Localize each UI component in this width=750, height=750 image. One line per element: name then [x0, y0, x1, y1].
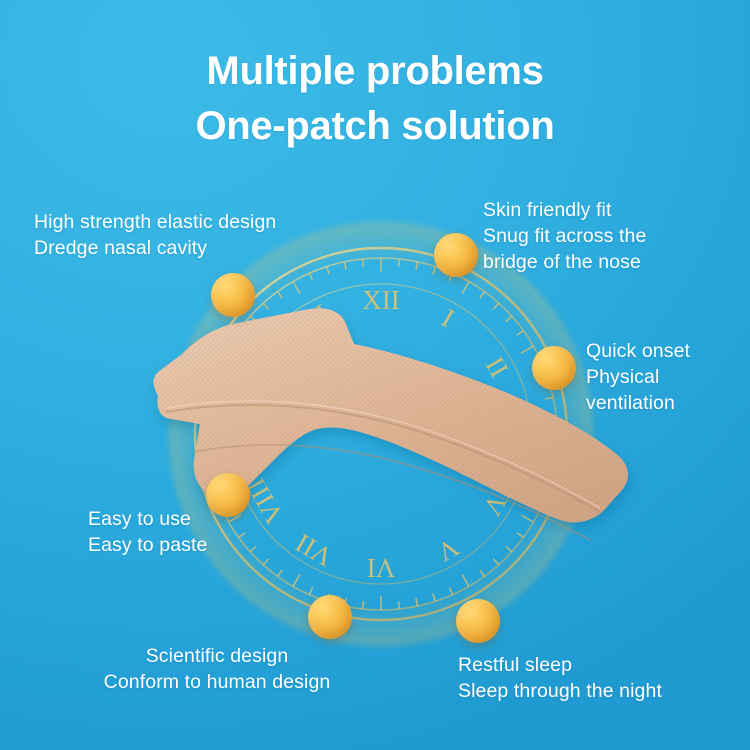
marker-quick-onset[interactable]: [532, 346, 576, 390]
feature-label-skin-friendly: Skin friendly fit Snug fit across the br…: [483, 198, 646, 276]
feature-line: Quick onset: [586, 339, 690, 365]
feature-label-easy-to-use: Easy to use Easy to paste: [88, 507, 207, 559]
feature-line: High strength elastic design: [34, 210, 276, 236]
page-title: Multiple problems One-patch solution: [0, 44, 750, 154]
marker-restful-sleep[interactable]: [456, 599, 500, 643]
feature-line: Restful sleep: [458, 653, 662, 679]
feature-line: Easy to use: [88, 507, 207, 533]
feature-label-quick-onset: Quick onset Physical ventilation: [586, 339, 690, 417]
feature-line: Sleep through the night: [458, 679, 662, 705]
feature-line: ventilation: [586, 391, 690, 417]
feature-line: Snug fit across the: [483, 224, 646, 250]
marker-skin-friendly[interactable]: [434, 233, 478, 277]
marker-scientific-design[interactable]: [308, 595, 352, 639]
feature-label-high-strength: High strength elastic design Dredge nasa…: [34, 210, 276, 262]
feature-line: bridge of the nose: [483, 250, 646, 276]
feature-line: Easy to paste: [88, 533, 207, 559]
feature-line: Scientific design: [88, 644, 346, 670]
feature-label-restful-sleep: Restful sleep Sleep through the night: [458, 653, 662, 705]
title-line-1: Multiple problems: [0, 44, 750, 99]
feature-label-scientific-design: Scientific design Conform to human desig…: [88, 644, 346, 696]
marker-high-strength[interactable]: [211, 273, 255, 317]
marker-easy-to-use[interactable]: [206, 473, 250, 517]
feature-line: Physical: [586, 365, 690, 391]
feature-line: Skin friendly fit: [483, 198, 646, 224]
feature-line: Dredge nasal cavity: [34, 236, 276, 262]
feature-line: Conform to human design: [88, 670, 346, 696]
title-line-2: One-patch solution: [0, 99, 750, 154]
product-infographic: IIIIIIIVVVIVIIVIIIIXXXIXII: [0, 0, 750, 750]
